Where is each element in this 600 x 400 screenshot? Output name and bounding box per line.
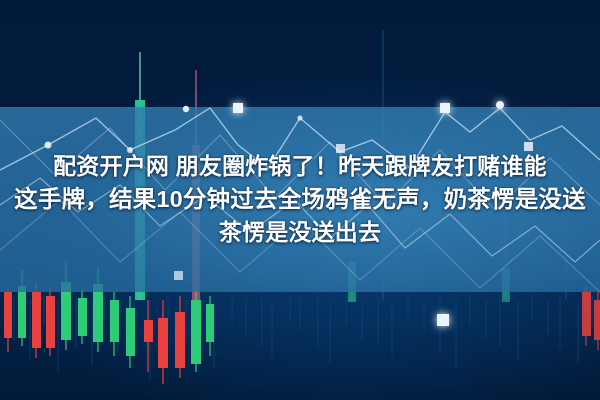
line-chart-overlay [0, 0, 600, 400]
thumbnail-image: 配资开户网 朋友圈炸锅了！昨天跟牌友打赌谁能 这手牌，结果10分钟过去全场鸦雀无… [0, 0, 600, 400]
